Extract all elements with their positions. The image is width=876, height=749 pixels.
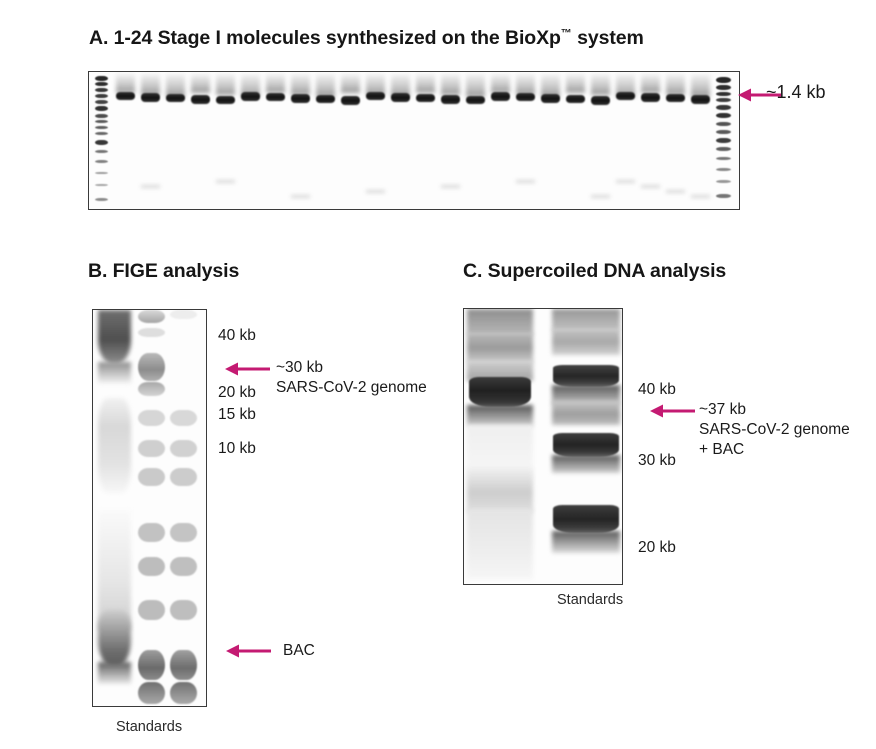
panel-a-low-mw-residue — [216, 180, 235, 183]
panel-a-well-smear — [466, 74, 485, 97]
panel-c-marker-30kb: 30 kb — [638, 452, 676, 470]
panel-a-main-band — [216, 96, 235, 104]
panel-a-well-smear — [691, 74, 710, 97]
panel-a-well-smear — [416, 74, 435, 93]
panel-b-marker-15kb: 15 kb — [218, 406, 256, 424]
panel-a-main-band — [116, 92, 135, 100]
panel-a-well-smear — [516, 74, 535, 95]
panel-a-sample-lane — [141, 72, 160, 209]
panel-a-sample-lane — [166, 72, 185, 209]
panel-a-sample-lane — [191, 72, 210, 209]
panel-b-lane-standards-2 — [170, 310, 197, 706]
panel-b-bac-label: BAC — [283, 641, 315, 660]
panel-a-ladder-left — [95, 72, 108, 209]
panel-a-well-smear — [491, 74, 510, 93]
panel-a-sample-lane — [416, 72, 435, 209]
panel-c-gel-image — [463, 308, 623, 585]
panel-a-main-band — [691, 95, 710, 104]
panel-a-sample-lane — [466, 72, 485, 209]
panel-a-well-smear — [566, 74, 585, 93]
panel-a-main-band — [666, 94, 685, 102]
panel-a-sample-lane — [266, 72, 285, 209]
panel-a-main-band — [566, 95, 585, 103]
panel-a-well-smear — [291, 74, 310, 95]
panel-a-band-size-label: ~1.4 kb — [766, 83, 826, 102]
panel-a-sample-lane — [116, 72, 135, 209]
panel-a-well-smear — [341, 74, 360, 93]
panel-a-sample-lane — [441, 72, 460, 209]
panel-a-low-mw-residue — [441, 185, 460, 188]
panel-b-genome-arrow — [225, 358, 271, 380]
panel-a-well-smear — [591, 74, 610, 95]
panel-a-sample-lane — [641, 72, 660, 209]
panel-a-sample-lane — [366, 72, 385, 209]
panel-c-genome-bac-arrow — [650, 400, 696, 422]
panel-a-main-band — [141, 93, 160, 102]
panel-a-low-mw-residue — [666, 190, 685, 193]
panel-a-main-band — [591, 96, 610, 105]
panel-a-well-smear — [141, 74, 160, 95]
panel-a-sample-lane — [316, 72, 335, 209]
panel-a-sample-lane — [566, 72, 585, 209]
panel-a-well-smear — [441, 74, 460, 95]
panel-a-title-suffix: system — [572, 27, 644, 49]
panel-a-main-band — [241, 92, 260, 101]
panel-b-caption: Standards — [116, 719, 182, 735]
panel-a-well-smear — [216, 74, 235, 95]
panel-a-low-mw-residue — [291, 195, 310, 198]
panel-a-sample-lane — [516, 72, 535, 209]
panel-a-sample-lane — [341, 72, 360, 209]
panel-a-main-band — [341, 96, 360, 105]
panel-a-main-band — [466, 96, 485, 104]
panel-a-main-band — [641, 93, 660, 102]
panel-a-well-smear — [266, 74, 285, 93]
panel-a-well-smear — [641, 74, 660, 93]
panel-a-sample-lane — [491, 72, 510, 209]
panel-a-sample-lane — [691, 72, 710, 209]
panel-b-lane-standards-1 — [138, 310, 165, 706]
panel-a-main-band — [441, 95, 460, 104]
panel-b-marker-40kb: 40 kb — [218, 327, 256, 345]
panel-c-genome-bac-label-line3: + BAC — [699, 440, 850, 460]
panel-a-sample-lane — [666, 72, 685, 209]
panel-a-main-band — [516, 93, 535, 101]
panel-a-well-smear — [666, 74, 685, 95]
panel-b-bac-arrow — [226, 640, 272, 662]
panel-a-main-band — [166, 94, 185, 102]
panel-a-low-mw-residue — [141, 185, 160, 188]
panel-a-well-smear — [191, 74, 210, 93]
panel-b-lane-sample — [98, 310, 131, 706]
panel-a-main-band — [316, 95, 335, 103]
panel-a-main-band — [616, 92, 635, 100]
panel-c-lane-sample — [467, 309, 533, 584]
panel-c-title: C. Supercoiled DNA analysis — [463, 260, 726, 283]
panel-b-title: B. FIGE analysis — [88, 260, 239, 283]
panel-a-low-mw-residue — [691, 195, 710, 198]
panel-a-sample-lane — [616, 72, 635, 209]
panel-c-caption: Standards — [557, 592, 623, 608]
panel-c-marker-40kb: 40 kb — [638, 381, 676, 399]
panel-b-marker-10kb: 10 kb — [218, 440, 256, 458]
panel-a-well-smear — [116, 74, 135, 93]
panel-a-title: A. 1-24 Stage I molecules synthesized on… — [89, 27, 644, 50]
panel-a-title-main: A. 1-24 Stage I molecules synthesized on… — [89, 27, 561, 49]
panel-b-genome-label-line2: SARS-CoV-2 genome — [276, 378, 427, 398]
panel-a-sample-lane — [591, 72, 610, 209]
panel-c-genome-bac-label: ~37 kb SARS-CoV-2 genome + BAC — [699, 400, 850, 460]
panel-a-main-band — [266, 93, 285, 101]
panel-a-well-smear — [316, 74, 335, 97]
panel-b-marker-20kb: 20 kb — [218, 384, 256, 402]
panel-a-low-mw-residue — [591, 195, 610, 198]
panel-a-low-mw-residue — [366, 190, 385, 193]
panel-c-lane-standards — [552, 309, 620, 584]
panel-c-marker-20kb: 20 kb — [638, 539, 676, 557]
panel-a-gel-image — [88, 71, 740, 210]
panel-c-genome-bac-label-line1: ~37 kb — [699, 400, 850, 420]
panel-b-genome-label: ~30 kb SARS-CoV-2 genome — [276, 358, 427, 398]
panel-a-main-band — [541, 94, 560, 103]
panel-b-gel-image — [92, 309, 207, 707]
panel-a-sample-lane — [291, 72, 310, 209]
panel-a-low-mw-residue — [641, 185, 660, 188]
panel-a-sample-lane — [391, 72, 410, 209]
panel-a-main-band — [291, 94, 310, 103]
panel-a-sample-lane — [541, 72, 560, 209]
panel-a-low-mw-residue — [616, 180, 635, 183]
panel-a-ladder-right — [716, 72, 731, 209]
panel-a-main-band — [391, 93, 410, 102]
panel-a-main-band — [366, 92, 385, 100]
panel-a-sample-lane — [216, 72, 235, 209]
figure-root: A. 1-24 Stage I molecules synthesized on… — [0, 0, 876, 749]
trademark-symbol: ™ — [561, 28, 572, 40]
panel-b-genome-label-line1: ~30 kb — [276, 358, 427, 378]
panel-a-sample-lane — [241, 72, 260, 209]
panel-c-genome-bac-label-line2: SARS-CoV-2 genome — [699, 420, 850, 440]
panel-a-main-band — [491, 92, 510, 101]
panel-a-low-mw-residue — [516, 180, 535, 183]
panel-a-main-band — [416, 94, 435, 102]
panel-a-main-band — [191, 95, 210, 104]
